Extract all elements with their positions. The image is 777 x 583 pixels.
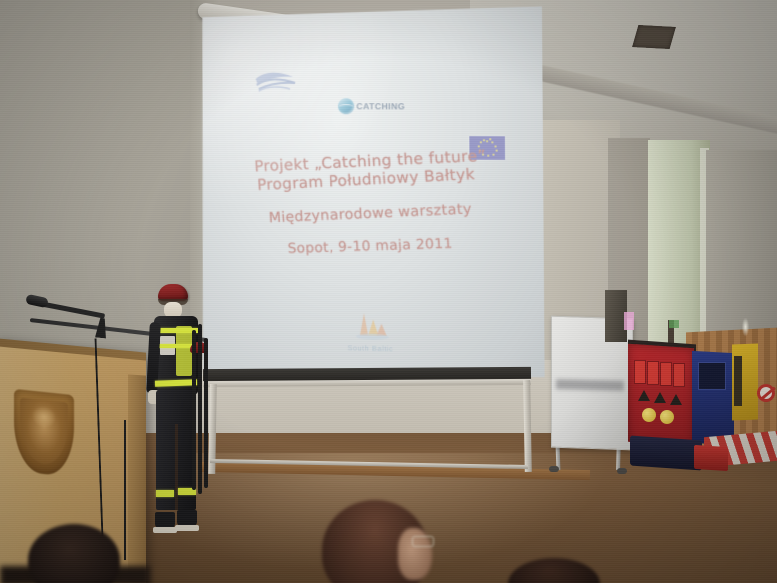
exhibit-red-bar [660,362,672,386]
exhibit-dark-bin [630,435,702,470]
ceiling-vent-icon [632,25,676,49]
catching-logo: CATCHING [338,98,405,114]
wave-book-icon [253,67,300,97]
exhibit-pink-label [624,312,634,330]
fire-boot [177,510,197,526]
slide-line-3: Międzynarodowe warsztaty [200,196,544,229]
boot-sole [153,527,177,533]
exhibit-yellow-tool [734,356,742,406]
exhibit-cone-icon [670,394,682,405]
lectern-side-panel [128,374,146,583]
slide-title-block: Projekt „Catching the future” Program Po… [200,152,544,258]
fire-boot [155,512,175,528]
whiteboard-caster [549,466,559,472]
eyeglasses-icon [412,536,434,547]
south-baltic-logo: South Baltic [201,302,544,357]
leg-gap [175,424,178,510]
whiteboard-caster [617,468,627,474]
reflective-stripe [156,490,174,497]
eagle-relief-icon [20,397,68,466]
exhibit-red-block [694,445,728,471]
exhibit-cone-icon [638,390,650,401]
hanging-gear-rack [192,324,210,504]
projection-screen: CATCHING [199,6,545,385]
south-baltic-mark [341,305,399,346]
exhibit-red-bar [634,360,646,384]
conference-room-photo: CATCHING [0,0,777,583]
globe-icon [338,98,354,114]
exhibit-red-bar [673,363,685,387]
presentation-slide: CATCHING [199,6,545,385]
exhibit-red-bar [647,361,659,385]
no-entry-sign-icon [757,384,775,402]
exhibit-disc-icon [660,410,674,424]
catching-wordmark: CATCHING [356,101,405,111]
fire-safety-exhibit-stand[interactable] [628,342,777,472]
boot-sole [175,525,199,531]
whiteboard-smudge [556,379,624,391]
exhibit-disc-icon [642,408,656,422]
slide-line-4: Sopot, 9-10 maja 2011 [200,231,544,260]
exhibit-blue-inset [698,362,726,390]
exhibit-cone-icon [654,392,666,403]
firefighter-mannequin [146,284,208,550]
wall-light-reflection [742,318,749,336]
exhibit-green-label [669,320,679,328]
